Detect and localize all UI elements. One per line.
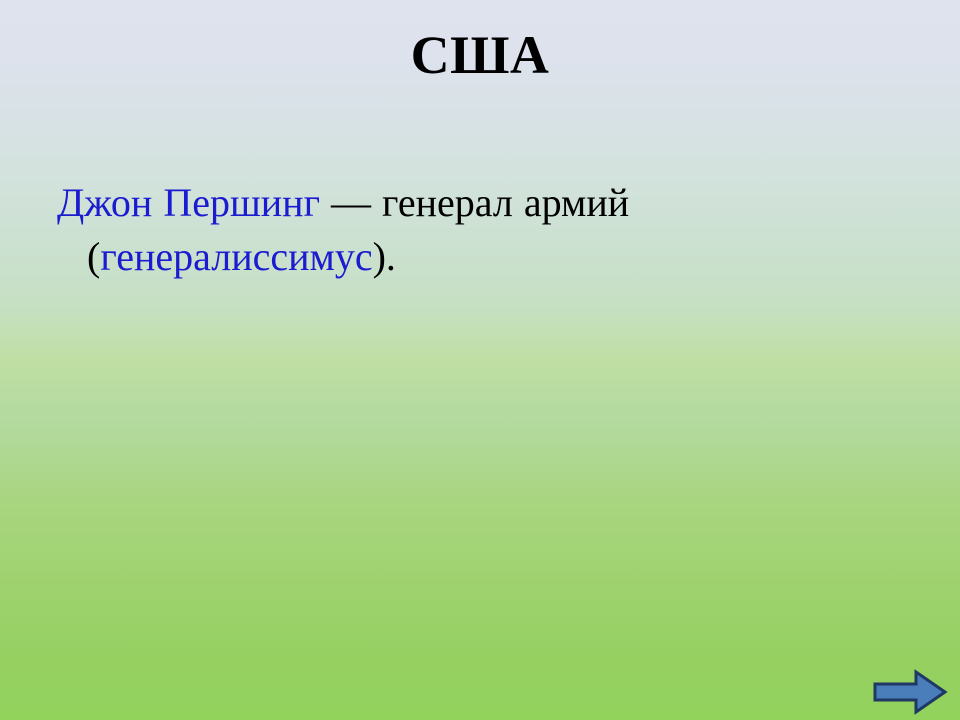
page-title: США bbox=[48, 24, 912, 86]
link-john-pershing[interactable]: Джон Першинг bbox=[57, 180, 320, 225]
body-paragraph: Джон Першинг — генерал армий (генералисс… bbox=[30, 176, 750, 284]
presentation-slide: США Джон Першинг — генерал армий (генера… bbox=[0, 0, 960, 720]
link-generalissimus[interactable]: генералиссимус bbox=[100, 234, 372, 279]
slide-body-container: Джон Першинг — генерал армий (генералисс… bbox=[30, 176, 750, 284]
slide-title-container: США bbox=[48, 24, 912, 86]
body-text-closing-paren: ). bbox=[373, 234, 396, 279]
next-slide-button[interactable] bbox=[872, 668, 948, 716]
arrow-right-icon bbox=[872, 668, 948, 716]
